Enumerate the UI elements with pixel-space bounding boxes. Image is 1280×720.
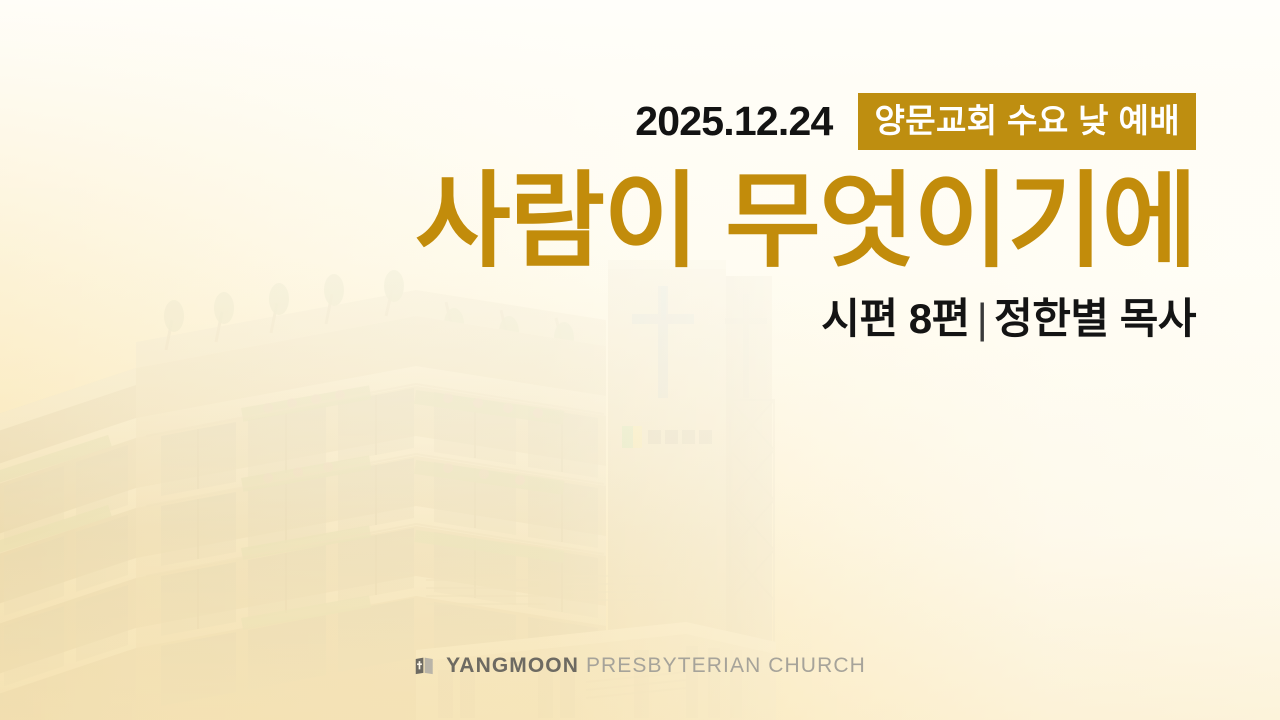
headline-block: 2025.12.24 양문교회 수요 낮 예배 사람이 무엇이기에 시편 8편|… xyxy=(196,92,1196,340)
sermon-title: 사람이 무엇이기에 xyxy=(196,168,1196,276)
open-bible-cross-icon xyxy=(414,655,435,676)
speaker-name: 정한별 목사 xyxy=(994,295,1196,342)
meta-separator: | xyxy=(970,295,994,342)
church-name: YANGMOON PRESBYTERIAN CHURCH xyxy=(446,655,866,676)
sermon-title-card: 2025.12.24 양문교회 수요 낮 예배 사람이 무엇이기에 시편 8편|… xyxy=(0,0,1280,720)
church-name-primary: YANGMOON xyxy=(446,654,579,677)
church-name-secondary: PRESBYTERIAN CHURCH xyxy=(586,654,866,677)
sermon-meta: 시편 8편|정한별 목사 xyxy=(196,298,1196,340)
service-date: 2025.12.24 xyxy=(635,101,832,142)
date-and-service-row: 2025.12.24 양문교회 수요 낮 예배 xyxy=(196,92,1196,150)
scripture-reference: 시편 8편 xyxy=(821,295,969,342)
church-logo-lockup: YANGMOON PRESBYTERIAN CHURCH xyxy=(0,655,1280,676)
service-type-badge: 양문교회 수요 낮 예배 xyxy=(858,93,1196,150)
